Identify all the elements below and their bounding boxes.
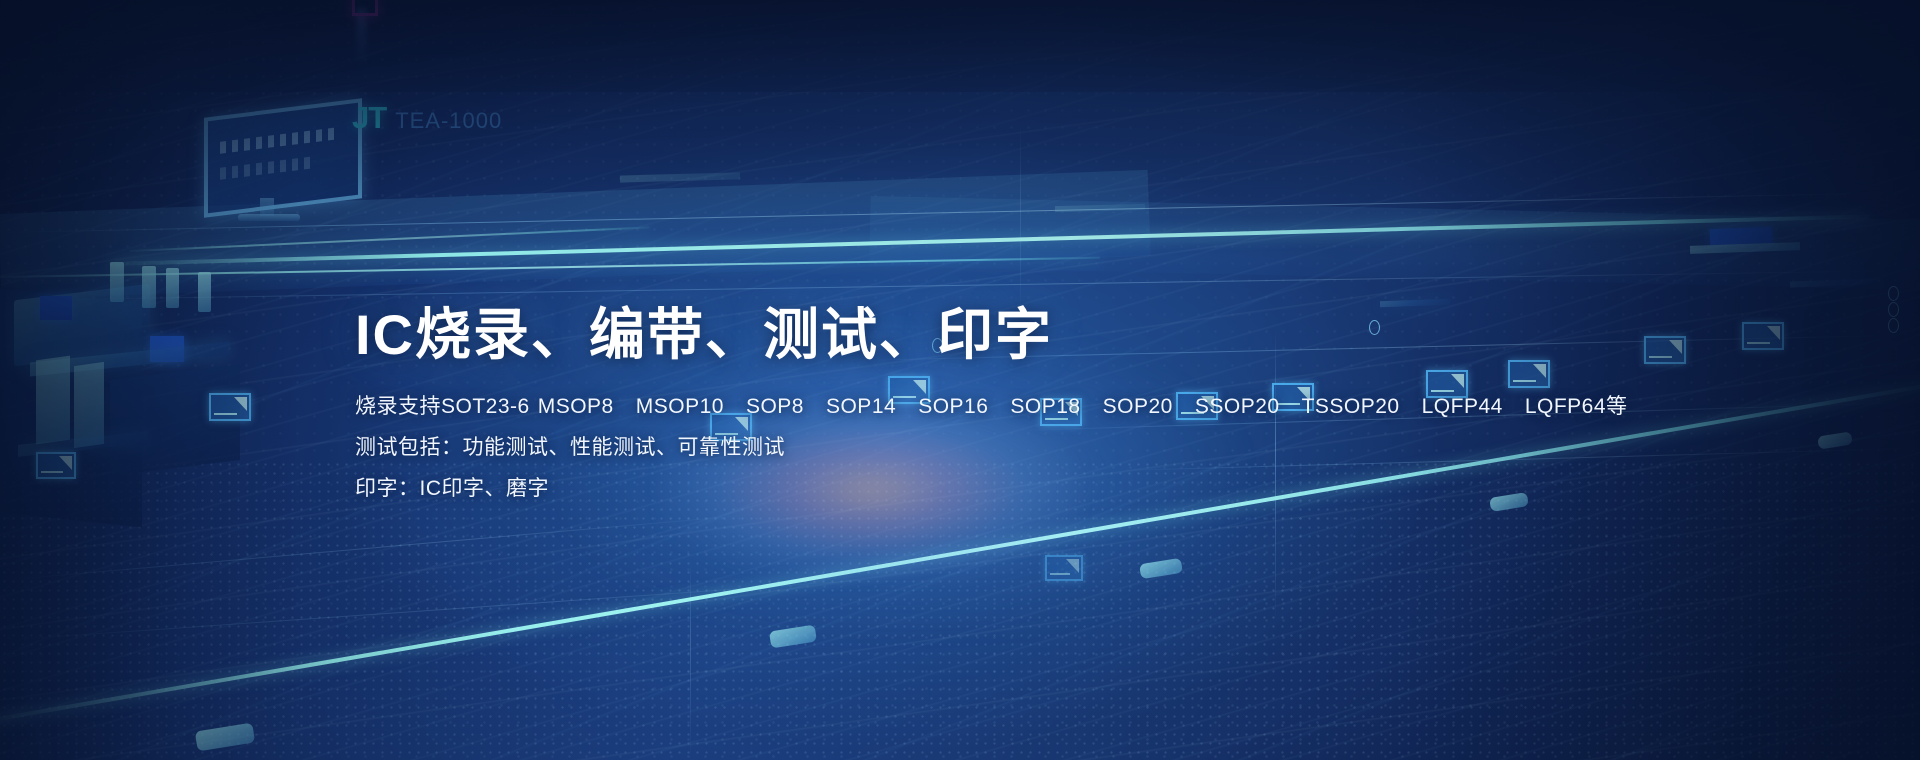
package-sop18: SOP18 [1010, 395, 1080, 418]
package-lqfp44: LQFP44 [1422, 395, 1503, 418]
burn-support-lead: 烧录支持SOT23-6 [355, 395, 530, 418]
package-ssop20: SSOP20 [1195, 395, 1280, 418]
hero-subtitle-list: 烧录支持SOT23-6MSOP8MSOP10SOP8SOP14SOP16SOP1… [355, 396, 1605, 499]
marking-scope-line: 印字：IC印字、磨字 [355, 478, 1605, 499]
package-msop10: MSOP10 [636, 395, 724, 418]
package-msop8: MSOP8 [538, 395, 614, 418]
burn-support-line: 烧录支持SOT23-6MSOP8MSOP10SOP8SOP14SOP16SOP1… [355, 396, 1605, 417]
hero-copy-block: IC烧录、编带、测试、印字 烧录支持SOT23-6MSOP8MSOP10SOP8… [355, 306, 1605, 519]
package-sop14: SOP14 [826, 395, 896, 418]
page-title: IC烧录、编带、测试、印字 [355, 306, 1605, 364]
hero-banner: JT TEA-1000 IC烧录、编带、测试、印字 [0, 0, 1920, 760]
package-lqfp64: LQFP64等 [1525, 395, 1628, 418]
package-sop20: SOP20 [1103, 395, 1173, 418]
test-scope-line: 测试包括：功能测试、性能测试、可靠性测试 [355, 437, 1605, 458]
package-tssop20: TSSOP20 [1302, 395, 1400, 418]
package-sop8: SOP8 [746, 395, 804, 418]
package-sop16: SOP16 [918, 395, 988, 418]
